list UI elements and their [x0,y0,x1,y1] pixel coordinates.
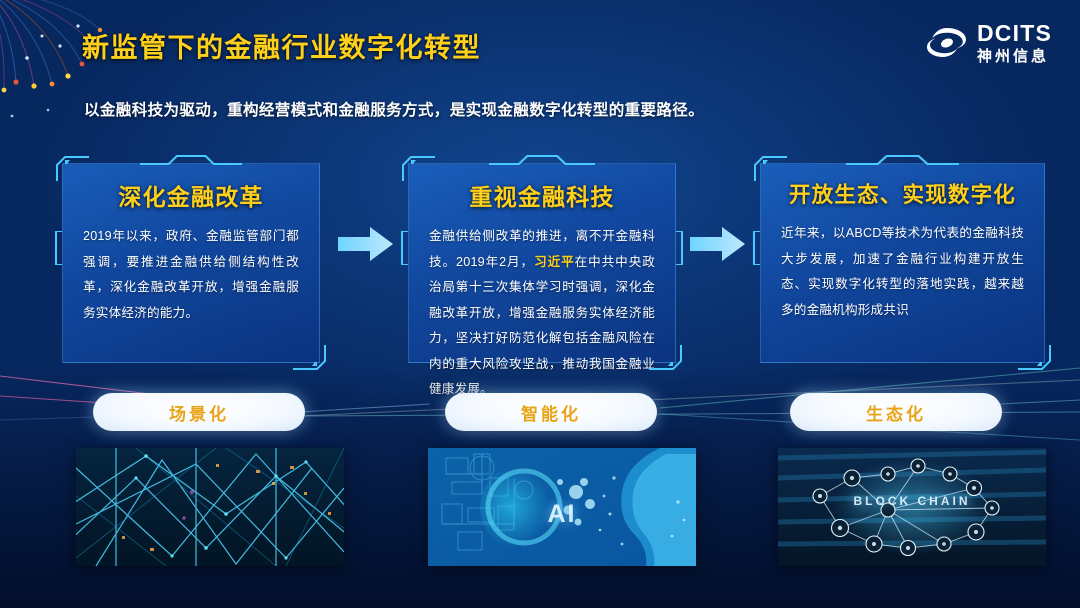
right-notch-icon [675,231,685,265]
card-title: 开放生态、实现数字化 [781,178,1024,209]
ai-head-photo: AI [428,448,696,566]
card-body: 金融供给侧改革的推进，离不开金融科技。2019年2月，习近平在中共中央政治局第十… [429,224,655,403]
card-title: 重视金融科技 [429,178,655,212]
slide-header: 新监管下的金融行业数字化转型 DCITS 神州信息 [0,0,1080,84]
network-mesh-city-photo [76,448,344,566]
card-body-highlight: 习近平 [534,255,575,269]
top-notch-icon [140,155,242,165]
blockchain-nodes-photo: BLOCK CHAIN [778,448,1046,566]
pill-label: 智能化 [521,400,581,425]
card-body: 近年来，以ABCD等技术为代表的金融科技大步发展，加速了金融行业构建开放生态、实… [781,221,1024,323]
pill-scenario[interactable]: 场景化 [93,393,305,431]
arrow-right-icon [338,226,394,262]
network-mesh-illustration [76,448,344,566]
top-notch-icon [489,155,595,165]
card-body-post: 在中共中央政治局第十三次集体学习时强调，深化金融改革开放，增强金融服务实体经济能… [429,255,655,397]
corner-bracket-icon [1017,344,1051,370]
corner-bracket-icon [292,344,326,370]
left-notch-icon [399,231,409,265]
pills-row: 场景化 智能化 生态化 [0,393,1080,433]
page-title: 新监管下的金融行业数字化转型 [82,26,481,65]
lead-paragraph: 以金融科技为驱动，重构经营模式和金融服务方式，是实现金融数字化转型的重要路径。 [84,98,704,120]
card-body: 2019年以来，政府、金融监管部门都强调，要推进金融供给侧结构性改革，深化金融改… [83,224,299,326]
left-notch-icon [751,231,761,265]
logo-en-text: DCITS [977,22,1052,45]
cards-row: 深化金融改革 2019年以来，政府、金融监管部门都强调，要推进金融供给侧结构性改… [0,163,1080,368]
slide-canvas: 新监管下的金融行业数字化转型 DCITS 神州信息 以金融科技为驱动，重构经营模… [0,0,1080,608]
pill-ecosystem[interactable]: 生态化 [790,393,1002,431]
pill-intelligence[interactable]: 智能化 [445,393,657,431]
left-notch-icon [53,231,63,265]
dcits-swirl-icon [926,26,968,60]
pill-label: 场景化 [169,400,229,425]
card-title: 深化金融改革 [83,178,299,212]
card-value-fintech: 重视金融科技 金融供给侧改革的推进，离不开金融科技。2019年2月，习近平在中共… [408,163,676,363]
card-deepen-financial-reform: 深化金融改革 2019年以来，政府、金融监管部门都强调，要推进金融供给侧结构性改… [62,163,320,363]
top-notch-icon [846,155,959,165]
logo-cn-text: 神州信息 [977,49,1052,64]
card-open-ecosystem-digitalization: 开放生态、实现数字化 近年来，以ABCD等技术为代表的金融科技大步发展，加速了金… [760,163,1045,363]
photos-row: AI [0,448,1080,568]
blockchain-illustration [778,448,1046,566]
arrow-right-icon [690,226,746,262]
brand-logo: DCITS 神州信息 [926,22,1052,64]
pill-label: 生态化 [866,400,926,425]
ai-head-illustration [428,448,696,566]
